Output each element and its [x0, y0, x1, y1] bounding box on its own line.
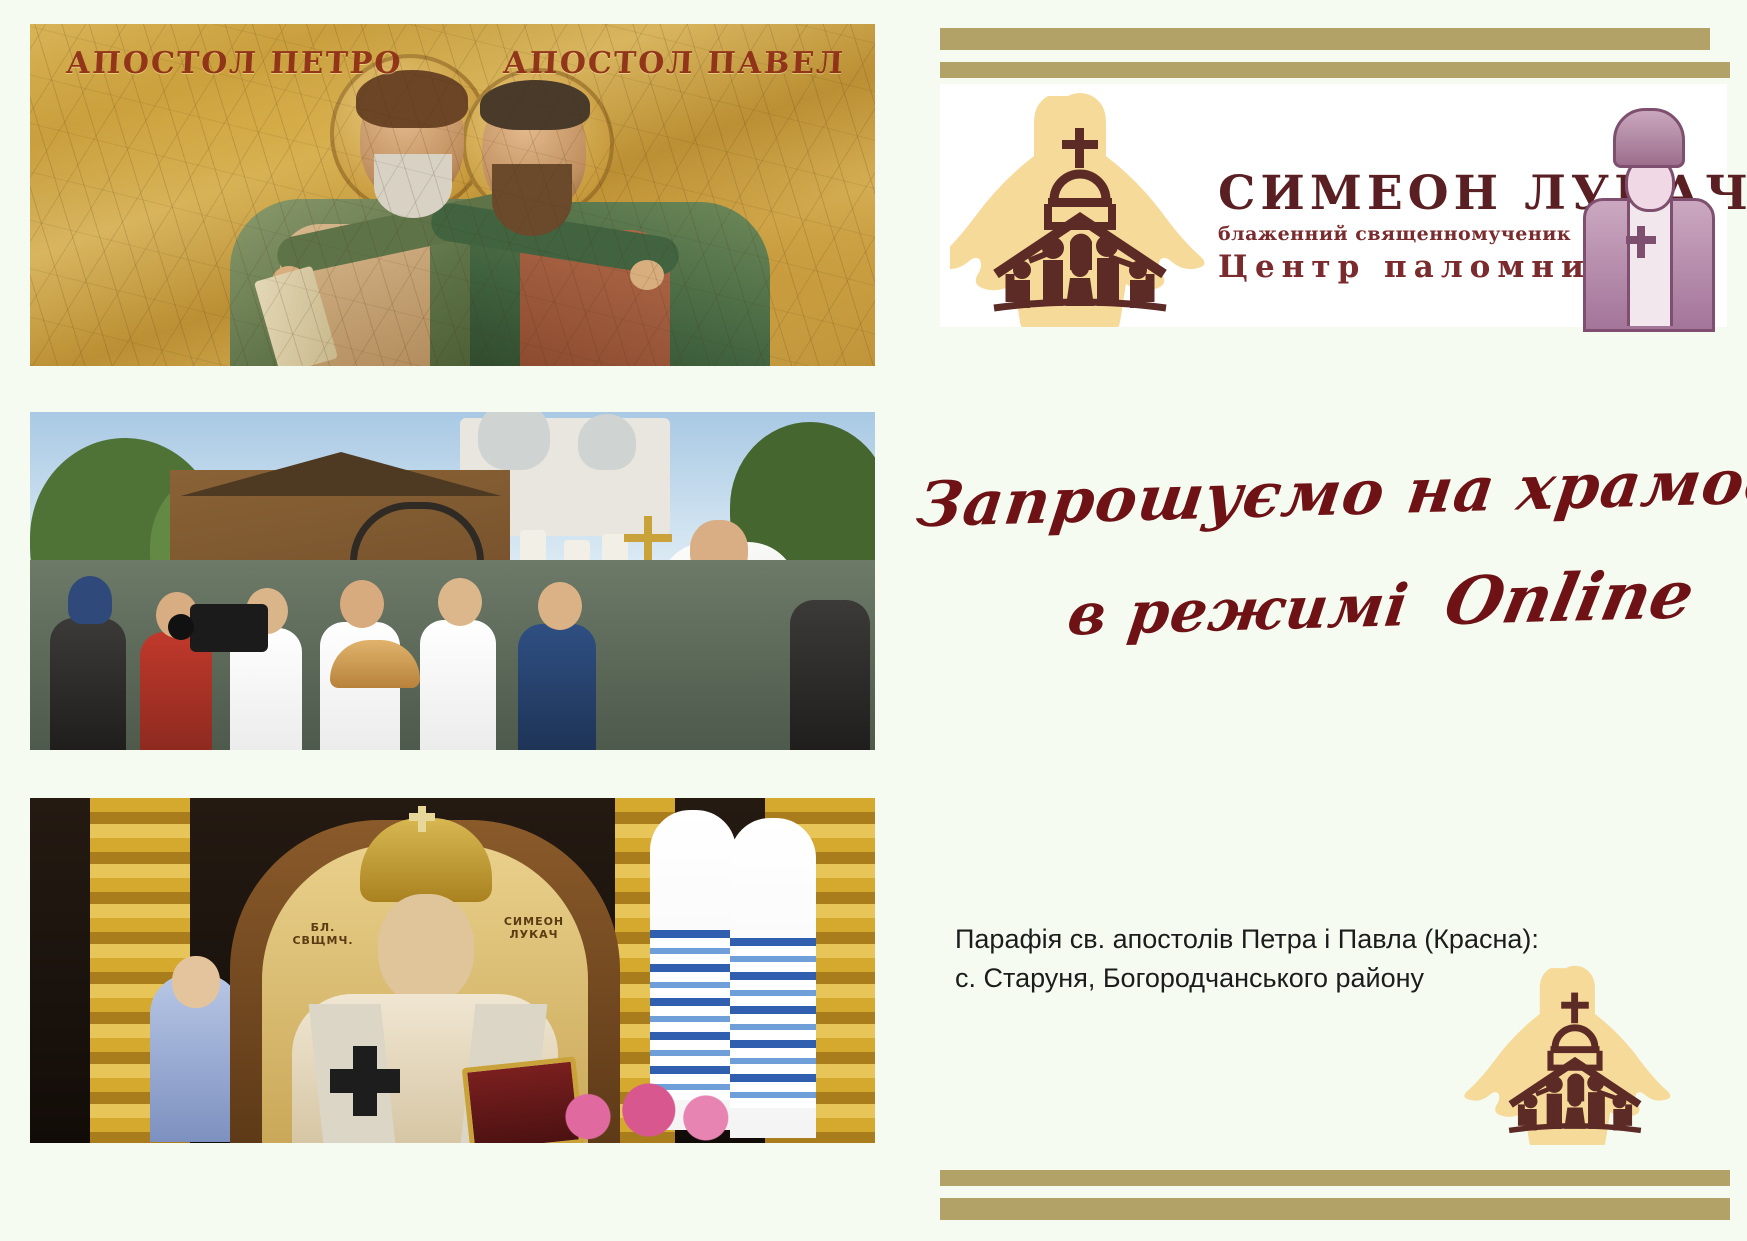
church-family-icon [950, 92, 1210, 327]
parish-line-1: Парафія св. апостолів Петра і Павла (Кра… [955, 920, 1655, 959]
church-dome [478, 412, 550, 470]
person-figure [790, 600, 870, 750]
icon-label-right: СИМЕОН ЛУКАЧ [492, 916, 576, 941]
person-head [438, 578, 482, 626]
gold-bar-bottom-2 [940, 1198, 1730, 1220]
bishop-illustration-icon [1571, 108, 1721, 326]
pectoral-cross-icon [330, 1046, 400, 1116]
bishop-omophorion [1627, 200, 1673, 326]
photo-parish-procession [30, 412, 875, 750]
church-dome [578, 414, 636, 470]
angel-head [172, 956, 220, 1008]
gold-bar-bottom-1 [940, 1170, 1730, 1186]
icon-label-left: БЛ. СВЩМЧ. [286, 922, 360, 947]
icon-inscription-left: АПОСТОЛ ПЕТРО [65, 46, 403, 81]
photo-column: АПОСТОЛ ПЕТРО АПОСТОЛ ПАВЕЛ [30, 24, 875, 1219]
photo-icon-simeon-lukach: БЛ. СВЩМЧ. СИМЕОН ЛУКАЧ [30, 798, 875, 1143]
invitation-line-2-prefix: в режимі [1064, 571, 1434, 649]
icon-inscription-right: АПОСТОЛ ПАВЕЛ [502, 46, 846, 81]
flower-decoration [550, 1077, 740, 1143]
bottom-church-family-icon [1460, 965, 1690, 1145]
poster-page: АПОСТОЛ ПЕТРО АПОСТОЛ ПАВЕЛ [0, 0, 1747, 1241]
saint-head [378, 894, 474, 1004]
photo-icon-apostles-peter-paul: АПОСТОЛ ПЕТРО АПОСТОЛ ПАВЕЛ [30, 24, 875, 366]
person-figure [518, 624, 596, 750]
gold-bar-top-1 [940, 28, 1710, 50]
person-head [538, 582, 582, 630]
bishop-cross-icon [1637, 226, 1645, 258]
logo-panel: СИМЕОН ЛУКАЧ блаженний священномученик Ц… [940, 84, 1727, 327]
invitation-block: Запрошуємо на храмове свято в режимі Onl… [900, 452, 1700, 682]
bishop-mitre-icon [1613, 108, 1685, 168]
video-camera-icon [190, 604, 268, 652]
invitation-online-word: Online [1422, 555, 1700, 640]
person-figure [50, 618, 126, 750]
invitation-line-1: Запрошуємо на храмове свято [913, 436, 1747, 542]
embroidered-rushnyk [730, 818, 816, 1138]
person-figure [420, 620, 496, 750]
procession-background [30, 412, 875, 750]
person-head [68, 576, 112, 624]
mitre-cross-icon [418, 806, 426, 832]
person-head [340, 580, 384, 628]
gold-bar-top-2 [940, 62, 1730, 78]
invitation-line-2: в режимі Online [1064, 555, 1698, 650]
